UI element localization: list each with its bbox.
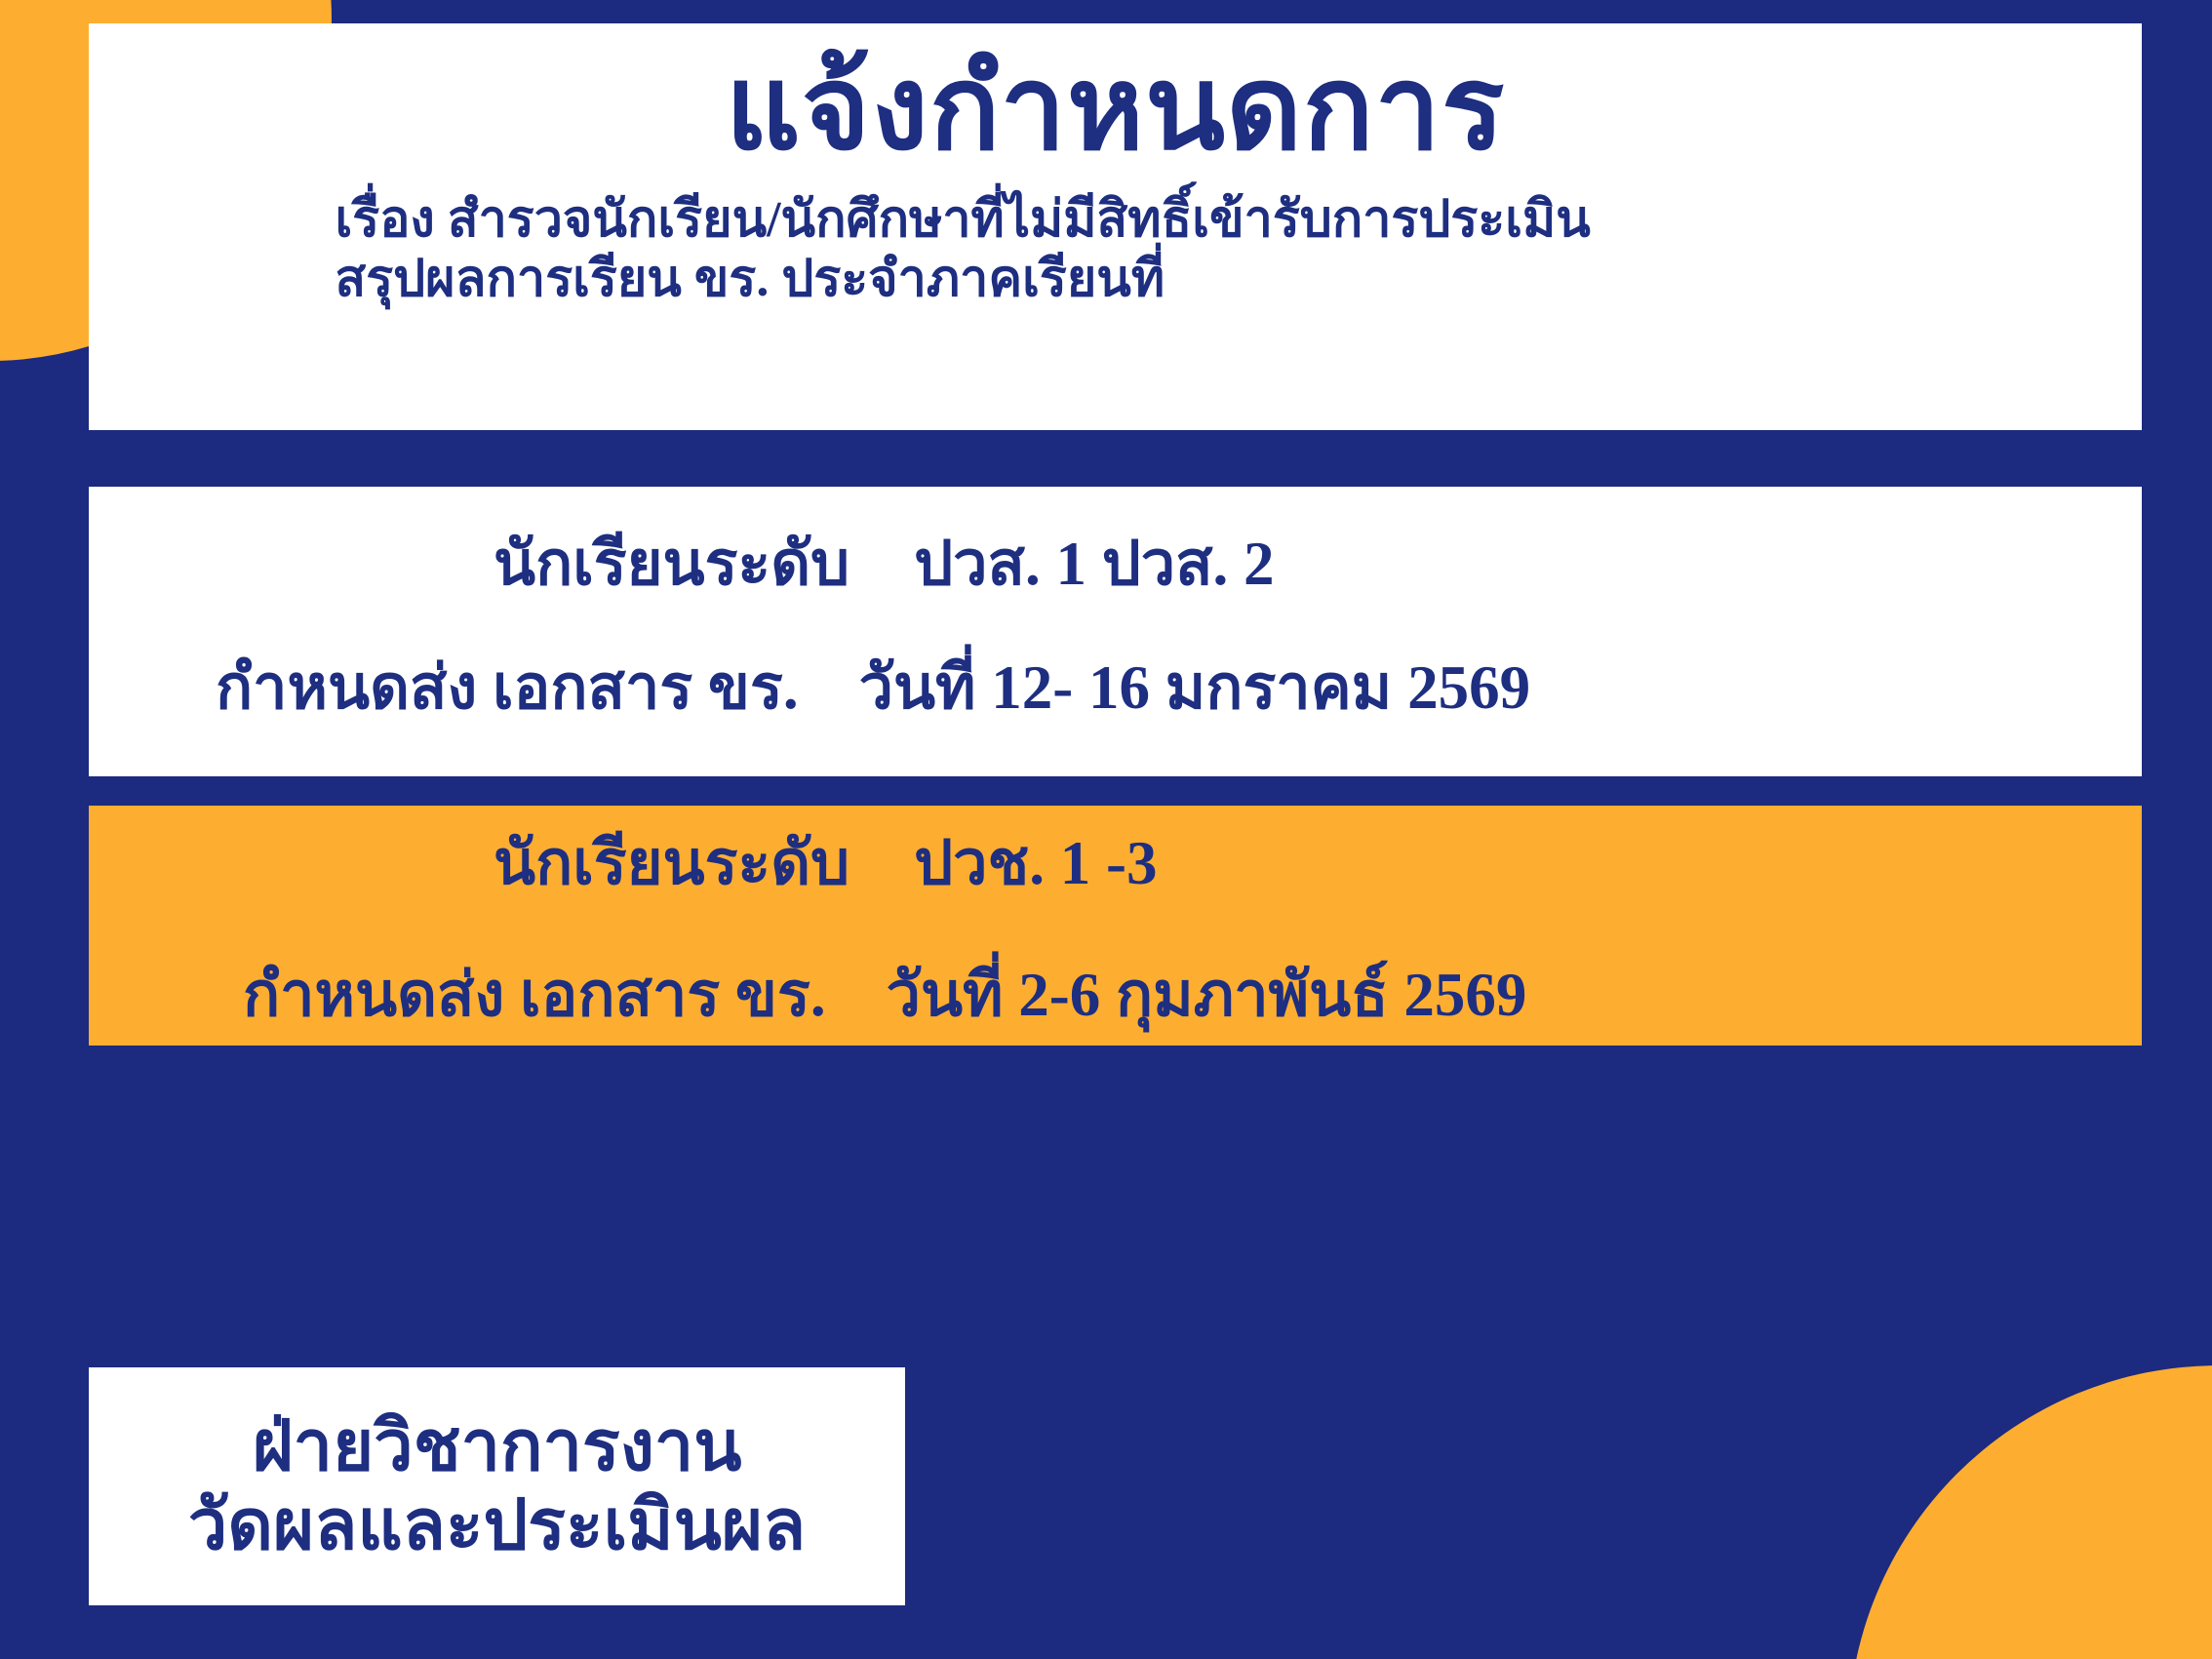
section-higher-vocational: นักเรียนระดับ ปวส. 1 ปวส. 2 กำหนดส่ง เอก… <box>89 487 2142 776</box>
decorative-circle-bottom-right-icon <box>1848 1365 2212 1659</box>
voc-level-row: นักเรียนระดับ ปวช. 1 -3 <box>89 833 2142 894</box>
hvc-deadline-label: กำหนดส่ง เอกสาร ขร. <box>216 657 799 719</box>
subtitle-line-2: สรุปผลการเรียน ขร. ประจำภาคเรียนที่ <box>336 250 1896 309</box>
footer-department-panel: ฝ่ายวิชาการงาน วัดผลและประเมินผล <box>89 1367 905 1605</box>
announcement-poster: แจ้งกำหนดการ เรื่อง สำรวจนักเรียน/นักศึก… <box>0 0 2212 1659</box>
hvc-level-row: นักเรียนระดับ ปวส. 1 ปวส. 2 <box>89 533 2142 595</box>
hvc-deadline-row: กำหนดส่ง เอกสาร ขร. วันที่ 12- 16 มกราคม… <box>89 657 2142 719</box>
footer-line-1: ฝ่ายวิชาการงาน <box>188 1407 806 1486</box>
subtitle-block: เรื่อง สำรวจนักเรียน/นักศึกษาที่ไม่มีสิท… <box>336 190 1896 310</box>
footer-line-2: วัดผลและประเมินผล <box>188 1486 806 1565</box>
footer-text-block: ฝ่ายวิชาการงาน วัดผลและประเมินผล <box>188 1407 806 1564</box>
hvc-level-label: นักเรียนระดับ <box>494 533 849 595</box>
page-title: แจ้งกำหนดการ <box>726 49 1506 171</box>
header-panel: แจ้งกำหนดการ เรื่อง สำรวจนักเรียน/นักศึก… <box>89 23 2142 430</box>
hvc-deadline-value: วันที่ 12- 16 มกราคม 2569 <box>859 657 1531 719</box>
subtitle-line-1: เรื่อง สำรวจนักเรียน/นักศึกษาที่ไม่มีสิท… <box>336 190 1896 250</box>
section-vocational-certificate: นักเรียนระดับ ปวช. 1 -3 กำหนดส่ง เอกสาร … <box>89 806 2142 1046</box>
voc-deadline-row: กำหนดส่ง เอกสาร ขร. วันที่ 2-6 กุมภาพันธ… <box>89 965 2142 1026</box>
voc-deadline-label: กำหนดส่ง เอกสาร ขร. <box>243 965 826 1026</box>
voc-level-label: นักเรียนระดับ <box>494 833 849 894</box>
voc-level-value: ปวช. 1 -3 <box>914 833 1157 894</box>
voc-deadline-value: วันที่ 2-6 กุมภาพันธ์ 2569 <box>887 965 1527 1026</box>
hvc-level-value: ปวส. 1 ปวส. 2 <box>914 533 1274 595</box>
